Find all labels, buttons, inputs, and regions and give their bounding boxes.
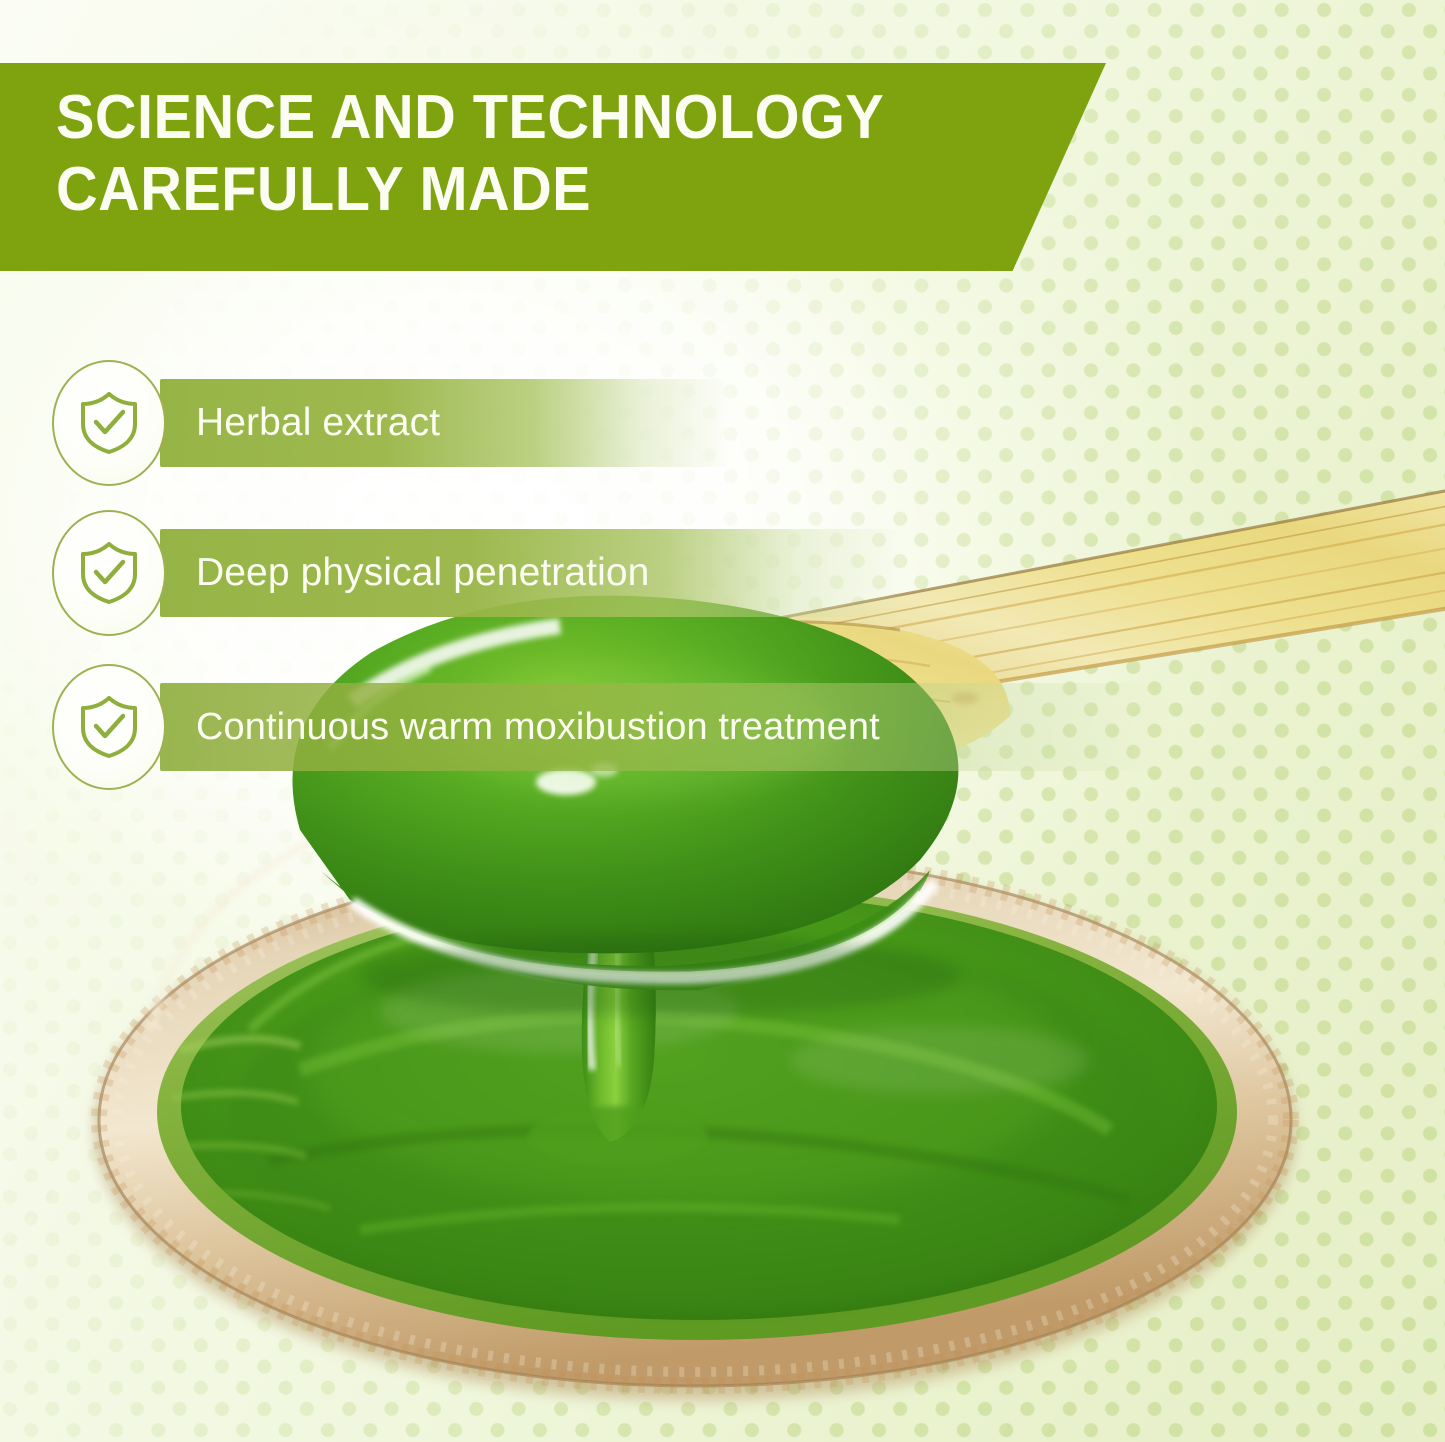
shield-check-icon bbox=[52, 664, 166, 790]
product-feature-poster: SCIENCE AND TECHNOLOGY CAREFULLY MADE He… bbox=[0, 0, 1445, 1442]
feature-label: Herbal extract bbox=[196, 401, 440, 445]
feature-label: Deep physical penetration bbox=[196, 551, 649, 595]
feature-item-herbal-extract[interactable]: Herbal extract bbox=[52, 360, 440, 486]
feature-label: Continuous warm moxibustion treatment bbox=[196, 705, 880, 749]
shield-check-icon bbox=[52, 510, 166, 636]
shield-check-icon bbox=[52, 360, 166, 486]
page-title: SCIENCE AND TECHNOLOGY CAREFULLY MADE bbox=[56, 82, 1005, 226]
feature-item-deep-physical-penetration[interactable]: Deep physical penetration bbox=[52, 510, 649, 636]
feature-item-continuous-warm-moxibustion-treatment[interactable]: Continuous warm moxibustion treatment bbox=[52, 664, 880, 790]
